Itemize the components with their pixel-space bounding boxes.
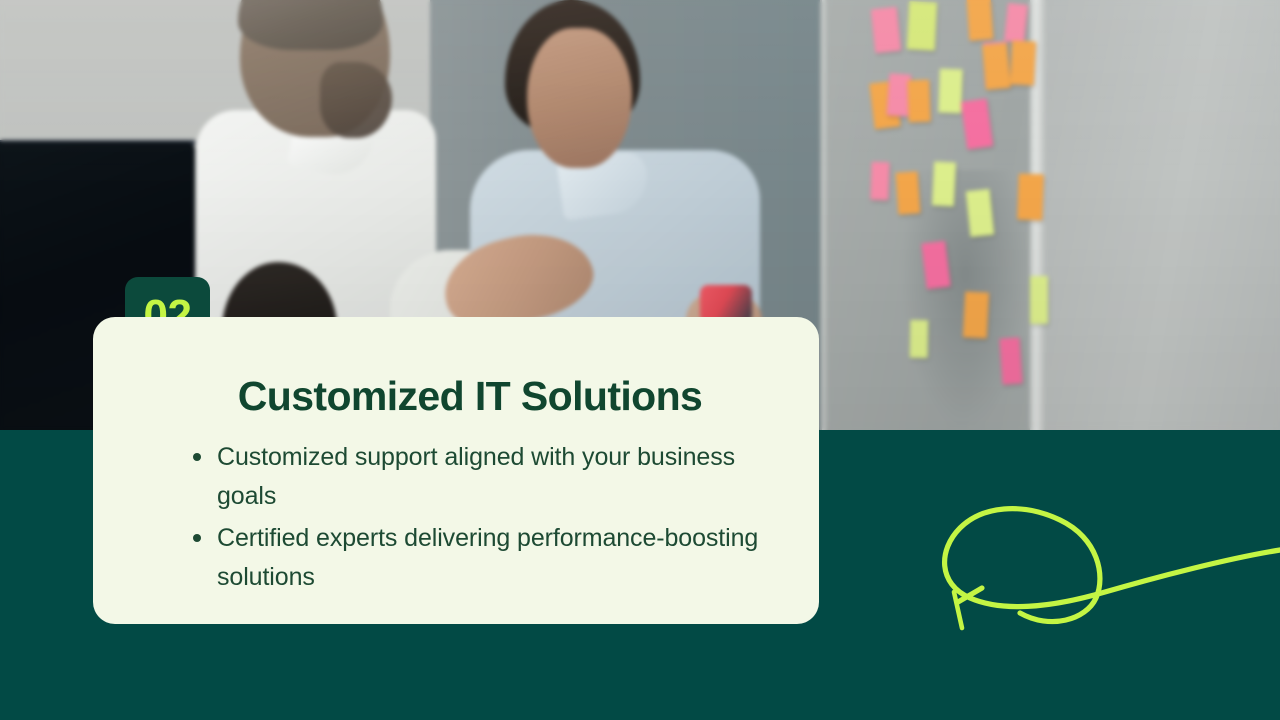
sticky-note	[870, 162, 889, 201]
board-right-panel	[1046, 0, 1280, 430]
sticky-note	[1010, 40, 1036, 85]
card-title: Customized IT Solutions	[169, 375, 779, 418]
sticky-note	[907, 80, 930, 123]
slide-root: 02 Customized IT Solutions Customized su…	[0, 0, 1280, 720]
sticky-note	[871, 7, 901, 53]
card-bullet-item: Certified experts delivering performance…	[193, 519, 779, 598]
man-hair	[238, 0, 383, 50]
sticky-note	[966, 189, 995, 237]
sticky-note	[1004, 3, 1028, 43]
sticky-note	[982, 43, 1011, 90]
sticky-note	[896, 171, 921, 214]
sticky-note	[938, 69, 963, 114]
man-beard	[320, 62, 392, 138]
card-bullet-item: Customized support aligned with your bus…	[193, 438, 779, 517]
board-left-edge	[822, 0, 828, 430]
sticky-note	[907, 1, 937, 50]
sticky-note	[1017, 174, 1044, 221]
sticky-note	[932, 161, 956, 206]
content-card: Customized IT Solutions Customized suppo…	[93, 317, 819, 624]
sticky-note	[1030, 276, 1048, 324]
sticky-note	[999, 337, 1022, 384]
sticky-note	[910, 320, 929, 358]
woman-face	[527, 28, 632, 168]
sticky-note	[963, 291, 989, 338]
card-bullet-list: Customized support aligned with your bus…	[169, 438, 779, 597]
sticky-note	[967, 0, 994, 41]
